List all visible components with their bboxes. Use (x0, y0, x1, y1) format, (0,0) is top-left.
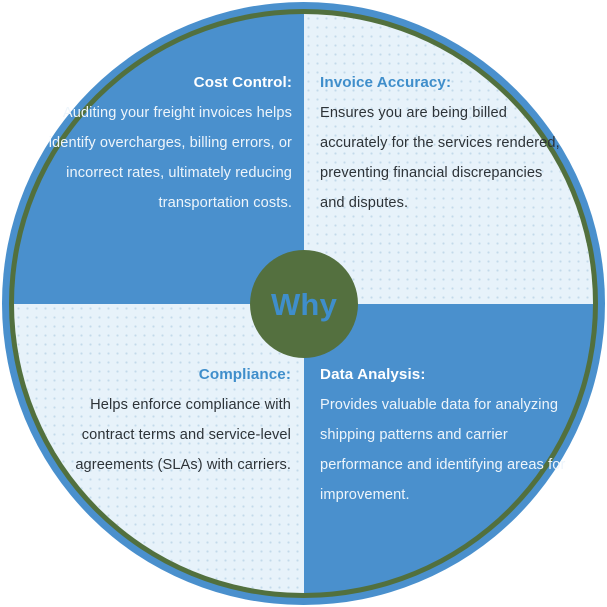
quadrant-body-cost-control: Auditing your freight invoices helps ide… (14, 98, 292, 218)
quadrant-text-data-analysis: Data Analysis: Provides valuable data fo… (320, 360, 570, 510)
quadrant-body-invoice-accuracy: Ensures you are being billed accurately … (320, 98, 570, 218)
quadrant-body-data-analysis: Provides valuable data for analyzing shi… (320, 390, 570, 510)
quadrant-body-compliance: Helps enforce compliance with contract t… (36, 390, 291, 480)
quadrant-heading-data-analysis: Data Analysis: (320, 360, 570, 390)
quadrant-text-cost-control: Cost Control: Auditing your freight invo… (14, 68, 292, 218)
center-hub: Why (250, 250, 358, 358)
quadrant-heading-invoice-accuracy: Invoice Accuracy: (320, 68, 570, 98)
infographic-canvas: Cost Control: Auditing your freight invo… (0, 0, 607, 607)
center-hub-label: Why (271, 289, 337, 320)
quadrant-text-compliance: Compliance: Helps enforce compliance wit… (36, 360, 291, 480)
quadrant-heading-cost-control: Cost Control: (14, 68, 292, 98)
quadrant-text-invoice-accuracy: Invoice Accuracy: Ensures you are being … (320, 68, 570, 218)
quadrant-heading-compliance: Compliance: (36, 360, 291, 390)
